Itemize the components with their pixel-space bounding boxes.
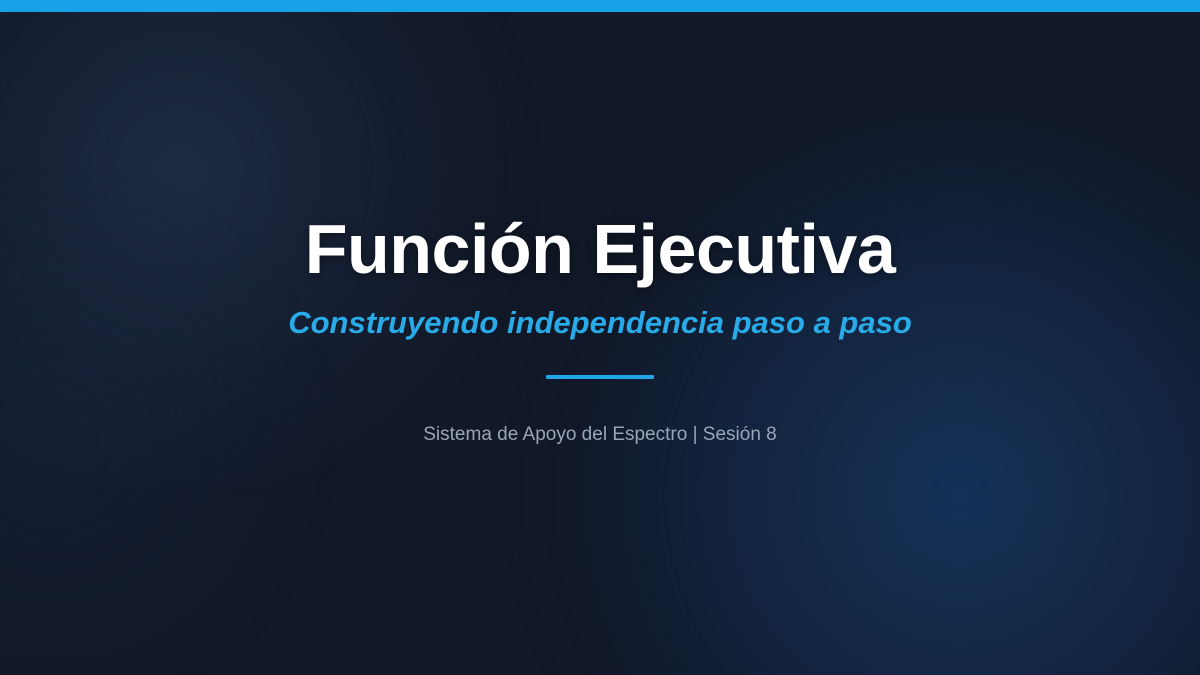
title-slide: Función Ejecutiva Construyendo independe… [0,0,1200,675]
page-title: Función Ejecutiva [0,214,1200,284]
slide-footer-text: Sistema de Apoyo del Espectro | Sesión 8 [0,423,1200,448]
top-accent-bar [0,0,1200,12]
divider-rule [546,375,654,379]
slide-content: Función Ejecutiva Construyendo independe… [0,0,1200,675]
slide-subtitle: Construyendo independencia paso a paso [0,304,1200,341]
